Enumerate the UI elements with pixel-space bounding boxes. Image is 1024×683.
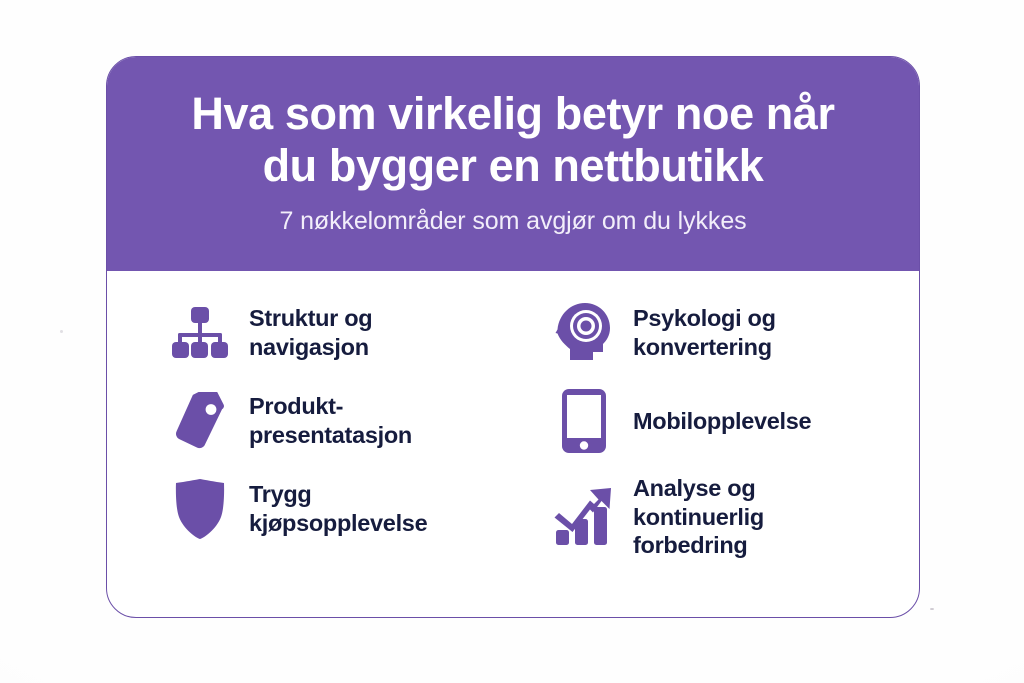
features-right-column: Psykologi og konvertering Mobilop bbox=[513, 289, 919, 617]
feature-label-line-1: Produkt- bbox=[249, 393, 343, 419]
head-target-icon bbox=[553, 300, 615, 366]
infographic-canvas: Hva som virkelig betyr noe når du bygger… bbox=[0, 0, 1024, 683]
feature-label-line-1: Analyse og bbox=[633, 475, 755, 501]
page-title: Hva som virkelig betyr noe når du bygger… bbox=[191, 88, 834, 192]
title-line-2: du bygger en nettbutikk bbox=[191, 140, 834, 192]
feature-trygg-kjopsopplevelse: Trygg kjøpsopplevelse bbox=[169, 465, 513, 553]
feature-label: Mobilopplevelse bbox=[633, 407, 811, 436]
smartphone-icon bbox=[553, 388, 615, 454]
card-header: Hva som virkelig betyr noe når du bygger… bbox=[107, 57, 919, 271]
feature-label-line-2: kontinuerlig bbox=[633, 504, 764, 530]
feature-label: Trygg kjøpsopplevelse bbox=[249, 480, 427, 537]
feature-label: Analyse og kontinuerlig forbedring bbox=[633, 474, 764, 560]
sitemap-icon bbox=[169, 300, 231, 366]
feature-psykologi-og-konvertering: Psykologi og konvertering bbox=[553, 289, 919, 377]
infographic-card: Hva som virkelig betyr noe når du bygger… bbox=[106, 56, 920, 618]
shield-icon bbox=[169, 476, 231, 542]
feature-label-line-1: Trygg bbox=[249, 481, 311, 507]
feature-label-line-2: konvertering bbox=[633, 334, 772, 360]
features-section: Struktur og navigasjon Produkt- pres bbox=[107, 271, 919, 617]
feature-analyse-og-kontinuerlig-forbedring: Analyse og kontinuerlig forbedring bbox=[553, 465, 919, 569]
growth-chart-icon bbox=[553, 484, 615, 550]
feature-label: Psykologi og konvertering bbox=[633, 304, 776, 361]
feature-produkt-presentasjon: Produkt- presentatasjon bbox=[169, 377, 513, 465]
page-subtitle: 7 nøkkelområder som avgjør om du lykkes bbox=[279, 207, 746, 236]
feature-label: Produkt- presentatasjon bbox=[249, 392, 412, 449]
feature-label-line-2: navigasjon bbox=[249, 334, 369, 360]
feature-label-line-2: presentatasjon bbox=[249, 422, 412, 448]
feature-label-line-2: kjøpsopplevelse bbox=[249, 510, 427, 536]
paper-speck bbox=[930, 608, 934, 610]
feature-label: Struktur og navigasjon bbox=[249, 304, 372, 361]
paper-speck bbox=[60, 330, 63, 333]
feature-mobilopplevelse: Mobilopplevelse bbox=[553, 377, 919, 465]
feature-label-line-3: forbedring bbox=[633, 532, 748, 558]
price-tag-icon bbox=[169, 388, 231, 454]
title-line-1: Hva som virkelig betyr noe når bbox=[191, 88, 834, 140]
feature-struktur-og-navigasjon: Struktur og navigasjon bbox=[169, 289, 513, 377]
feature-label-line-1: Psykologi og bbox=[633, 305, 776, 331]
feature-label-line-1: Mobilopplevelse bbox=[633, 408, 811, 434]
feature-label-line-1: Struktur og bbox=[249, 305, 372, 331]
features-left-column: Struktur og navigasjon Produkt- pres bbox=[107, 289, 513, 617]
